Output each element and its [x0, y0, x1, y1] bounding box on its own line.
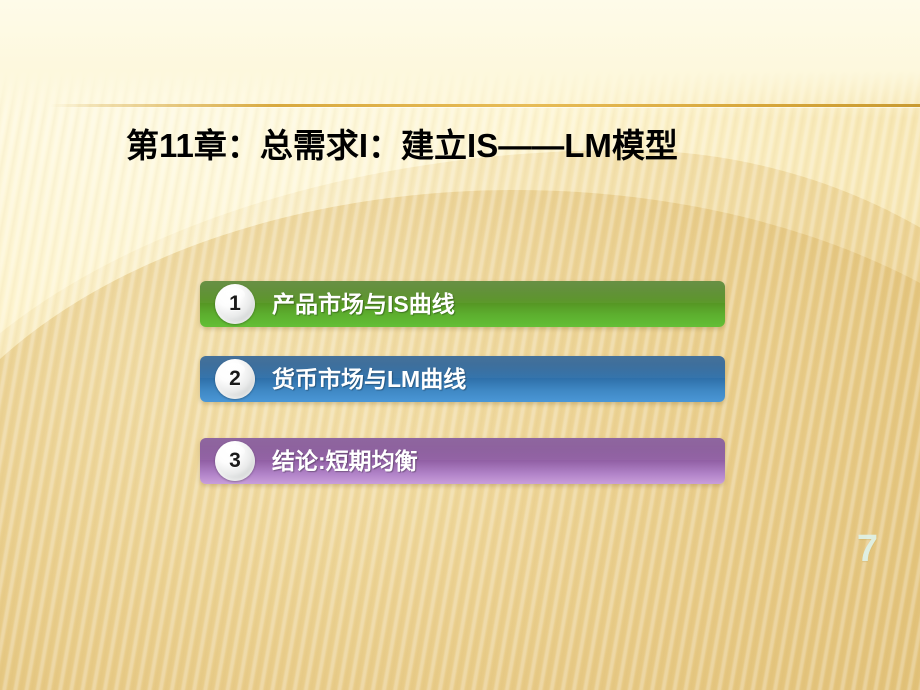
agenda-item-1[interactable]: 1 产品市场与IS曲线: [200, 281, 725, 327]
agenda-item-3[interactable]: 3 结论:短期均衡: [200, 438, 725, 484]
agenda-item-2[interactable]: 2 货币市场与LM曲线: [200, 356, 725, 402]
page-number: 7: [857, 528, 878, 571]
agenda-item-2-label: 货币市场与LM曲线: [272, 356, 466, 402]
agenda-item-3-number: 3: [215, 441, 255, 481]
agenda-item-3-label: 结论:短期均衡: [272, 438, 418, 484]
header-divider-highlight: [50, 107, 920, 108]
agenda-item-1-label: 产品市场与IS曲线: [272, 281, 455, 327]
presentation-slide: 第11章：总需求I：建立IS——LM模型 1 产品市场与IS曲线 2 货币市场与…: [0, 0, 920, 690]
agenda-item-2-badge: 2: [215, 359, 255, 399]
agenda-item-2-number: 2: [215, 359, 255, 399]
agenda-item-1-number: 1: [215, 284, 255, 324]
agenda-item-1-badge: 1: [215, 284, 255, 324]
slide-title: 第11章：总需求I：建立IS——LM模型: [126, 126, 886, 166]
agenda-item-3-badge: 3: [215, 441, 255, 481]
background-top-fade: [0, 0, 920, 118]
